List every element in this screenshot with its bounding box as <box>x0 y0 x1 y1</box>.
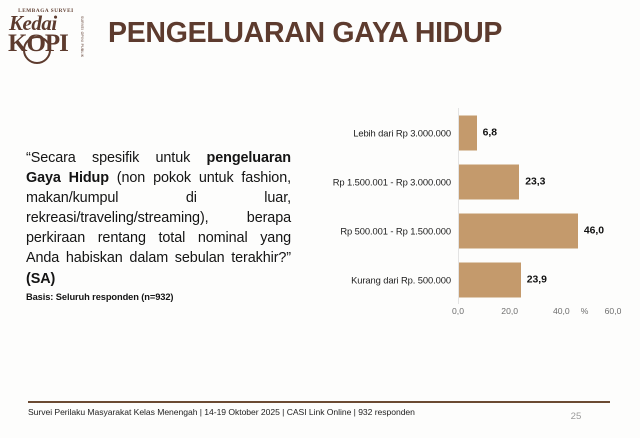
category-label: Lebih dari Rp 3.000.000 <box>353 127 451 138</box>
footer-divider <box>28 401 610 403</box>
chart-row-3: Kurang dari Rp. 500.000 23,9 <box>458 255 613 304</box>
bar-value-2: 46,0 <box>584 225 604 236</box>
bar-value-0: 6,8 <box>483 127 497 138</box>
bar-1 <box>459 164 519 199</box>
page-title: PENGELUARAN GAYA HIDUP <box>108 17 502 50</box>
bar-value-1: 23,3 <box>525 176 545 187</box>
x-tick-2: 40,0 <box>553 306 570 316</box>
question-block: “Secara spesifik untuk pengeluaran Gaya … <box>26 148 291 302</box>
question-bold-2: (SA) <box>26 271 55 287</box>
x-tick-0: 0,0 <box>452 306 464 316</box>
question-opening: “Secara spesifik untuk <box>26 150 207 166</box>
x-tick-1: 20,0 <box>501 306 518 316</box>
chart-row-0: Lebih dari Rp 3.000.000 6,8 <box>458 108 613 157</box>
category-label: Kurang dari Rp. 500.000 <box>351 274 451 285</box>
x-tick-3: 60,0 <box>605 306 622 316</box>
chart-x-axis: 0,0 20,0 40,0 60,0 % <box>458 306 633 322</box>
basis-note: Basis: Seluruh responden (n=932) <box>26 292 291 302</box>
coffee-ring-icon <box>23 36 51 64</box>
footer-source-text: Survei Perilaku Masyarakat Kelas Menenga… <box>28 407 498 419</box>
chart-row-1: Rp 1.500.001 - Rp 3.000.000 23,3 <box>458 157 613 206</box>
bar-3 <box>459 262 521 297</box>
brand-logo: LEMBAGA SURVEI Kedai KOPI SURVEI OPINI P… <box>6 6 84 68</box>
bar-chart: Lebih dari Rp 3.000.000 6,8 Rp 1.500.001… <box>318 108 618 323</box>
bar-2 <box>459 213 578 248</box>
question-text: “Secara spesifik untuk pengeluaran Gaya … <box>26 148 291 289</box>
chart-row-2: Rp 500.001 - Rp 1.500.000 46,0 <box>458 206 613 255</box>
x-axis-unit-label: % <box>581 306 589 316</box>
category-label: Rp 500.001 - Rp 1.500.000 <box>340 225 451 236</box>
logo-side-text: SURVEI OPINI PUBLIK <box>72 16 84 60</box>
slide: LEMBAGA SURVEI Kedai KOPI SURVEI OPINI P… <box>0 0 640 438</box>
category-label: Rp 1.500.001 - Rp 3.000.000 <box>333 176 451 187</box>
chart-plot-area: Lebih dari Rp 3.000.000 6,8 Rp 1.500.001… <box>458 108 613 304</box>
bar-0 <box>459 115 477 150</box>
bar-value-3: 23,9 <box>527 274 547 285</box>
page-number: 25 <box>556 411 596 422</box>
